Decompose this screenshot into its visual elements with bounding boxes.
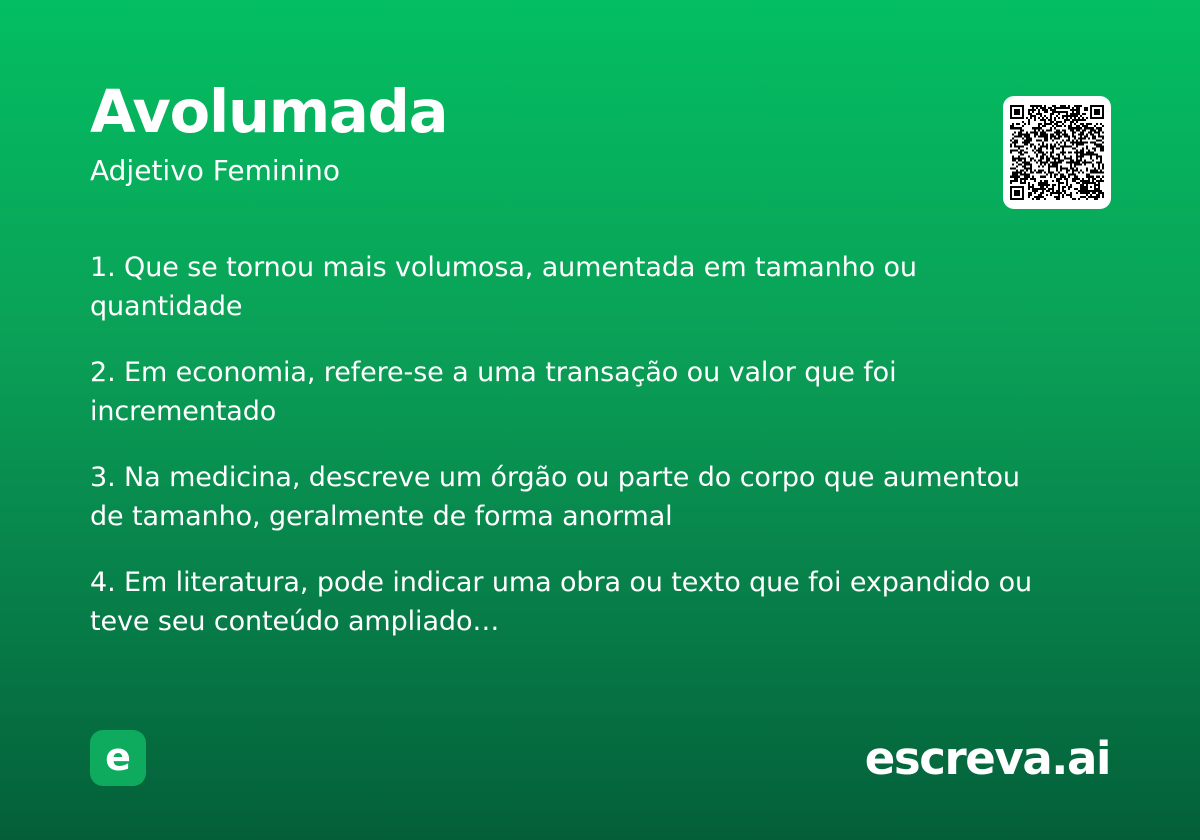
- brand-logo-letter: e: [105, 738, 131, 776]
- page-title: Avolumada: [90, 82, 1110, 142]
- qr-code-icon: [1010, 103, 1104, 202]
- brand-wordmark: escreva.ai: [865, 730, 1110, 786]
- definition-item: 3. Na medicina, descreve um órgão ou par…: [90, 458, 1050, 536]
- definition-item: 1. Que se tornou mais volumosa, aumentad…: [90, 248, 1050, 326]
- card-header: Avolumada Adjetivo Feminino: [90, 82, 1110, 188]
- brand-logo-badge: e: [90, 730, 146, 786]
- definition-item: 2. Em economia, refere-se a uma transaçã…: [90, 353, 1050, 431]
- card-footer: e escreva.ai: [90, 730, 1110, 788]
- qr-code-container[interactable]: [1003, 96, 1111, 209]
- definition-item: 4. Em literatura, pode indicar uma obra …: [90, 563, 1050, 641]
- dictionary-card: Avolumada Adjetivo Feminino 1. Que se to…: [0, 0, 1200, 840]
- definition-list: 1. Que se tornou mais volumosa, aumentad…: [90, 248, 1050, 641]
- grammatical-class-label: Adjetivo Feminino: [90, 154, 1110, 188]
